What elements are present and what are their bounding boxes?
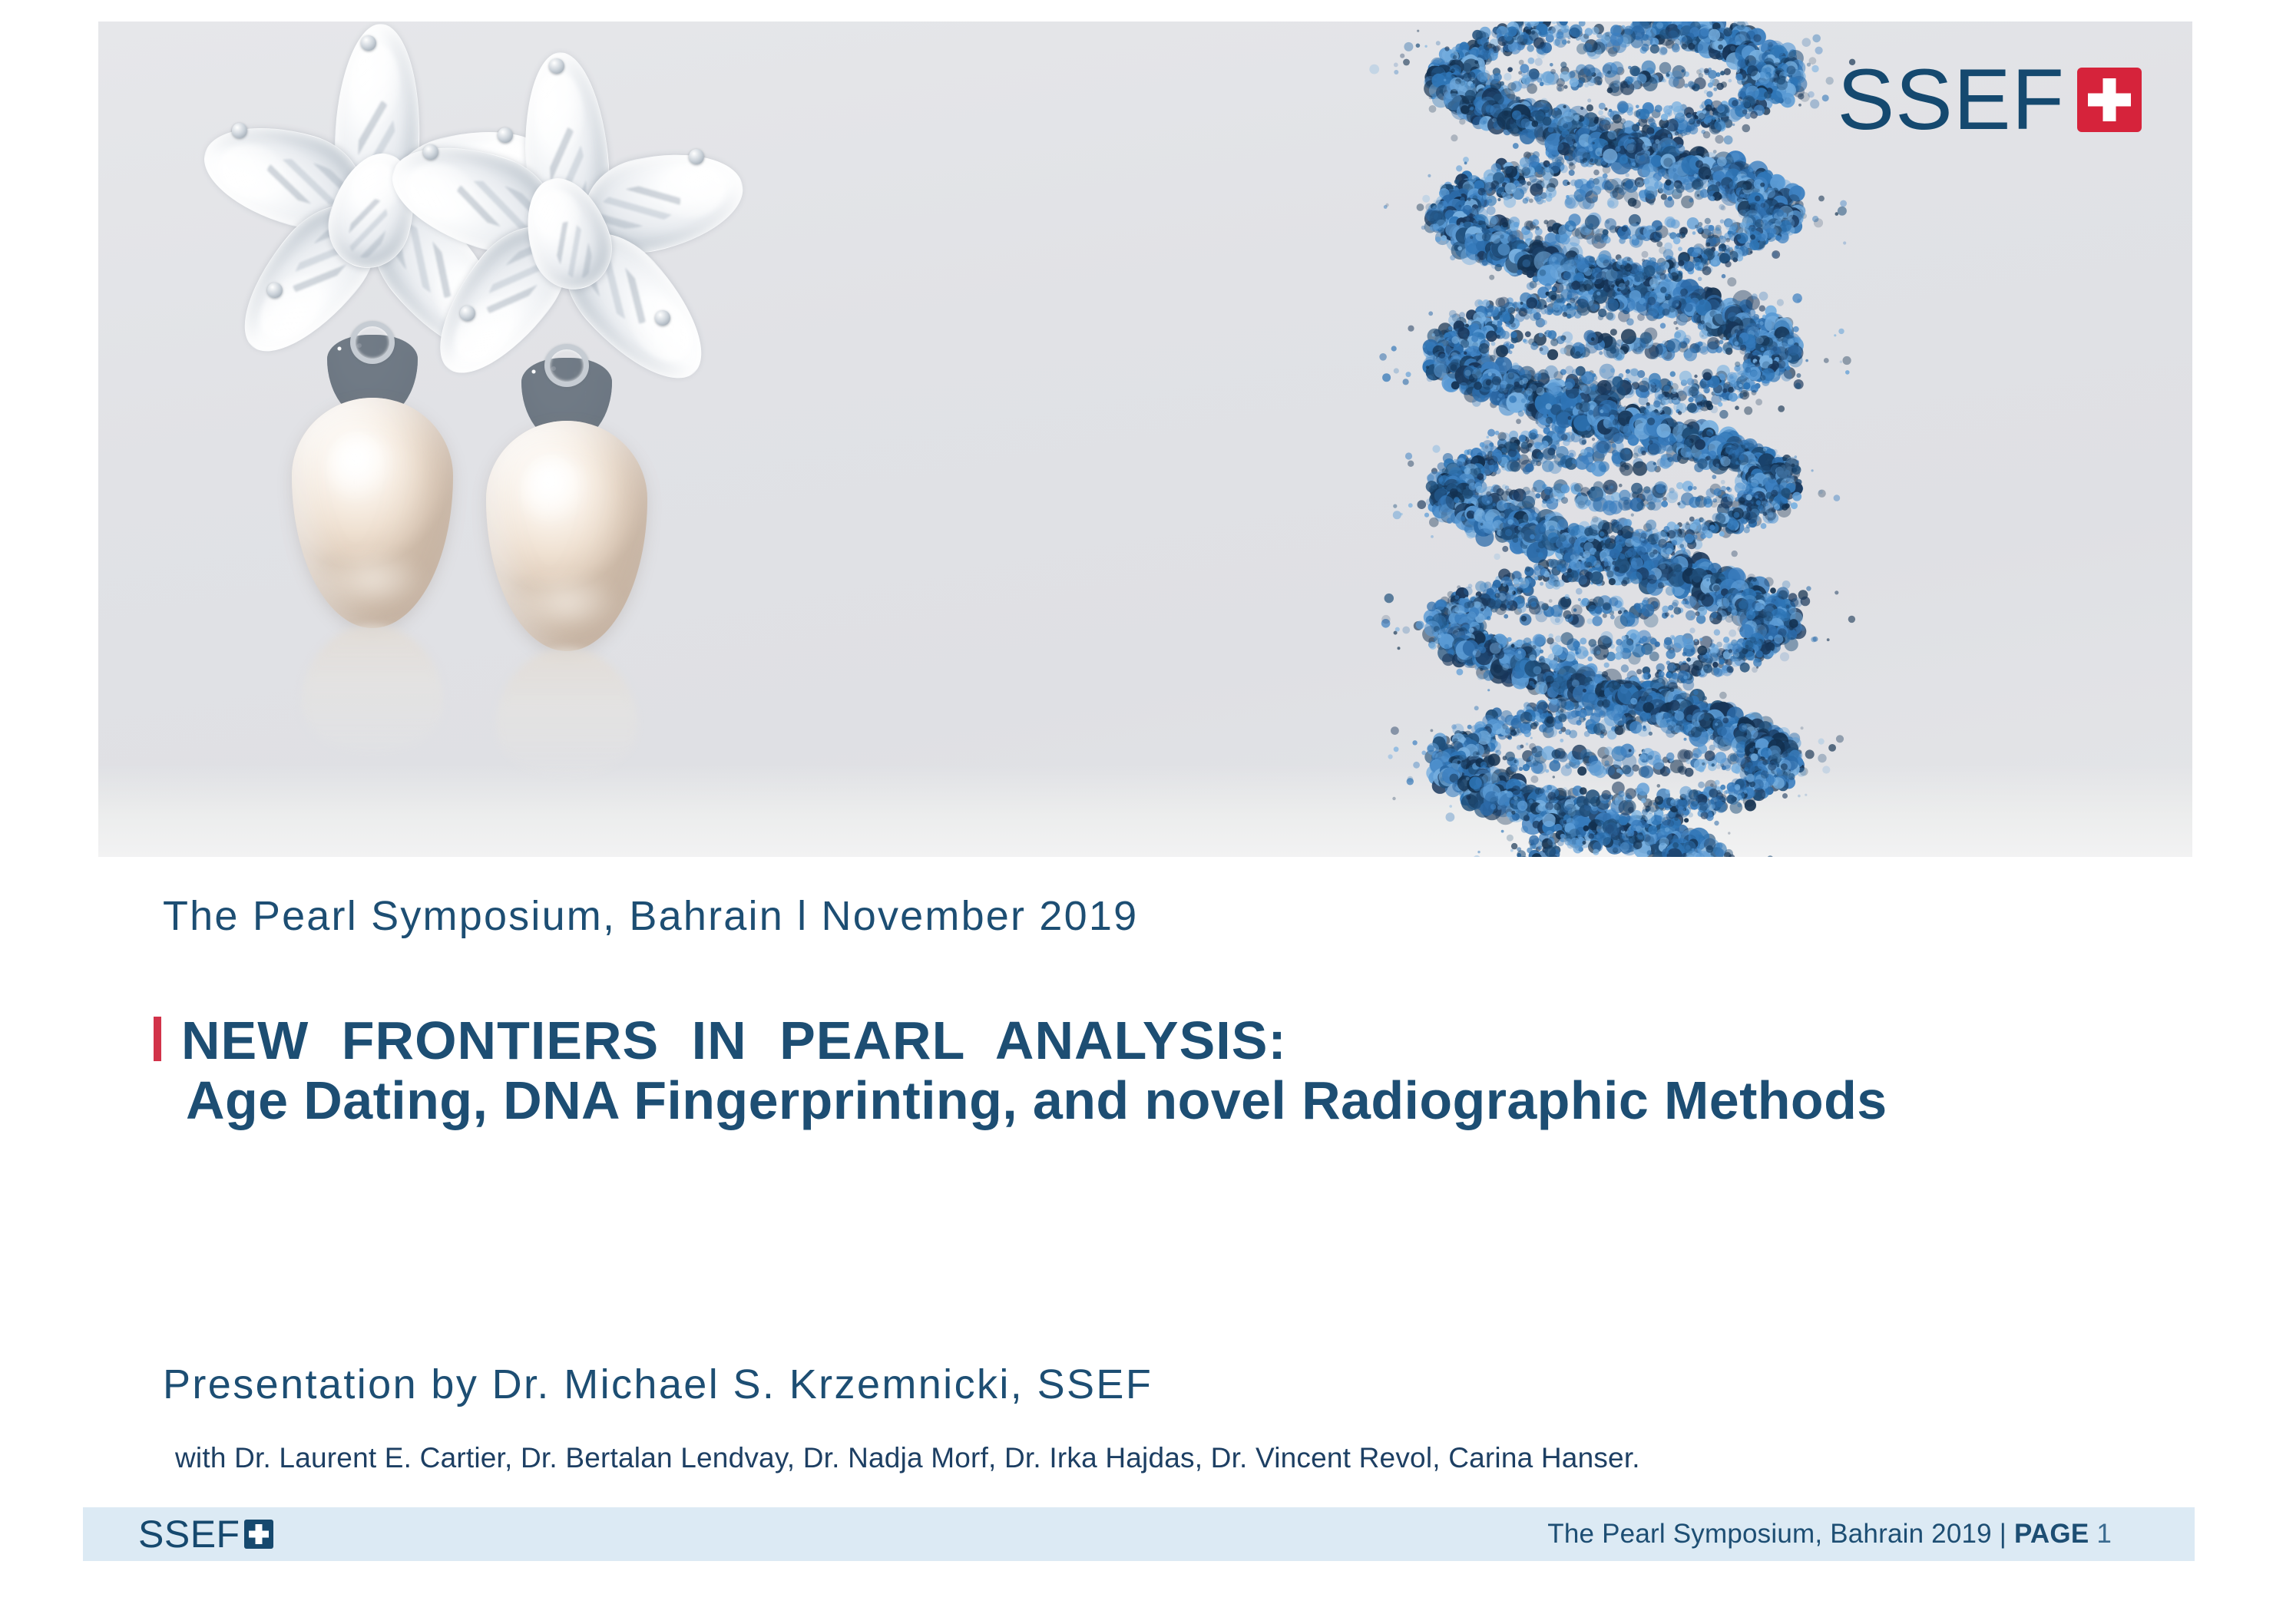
footer-swiss-cross-icon <box>244 1520 273 1549</box>
setting-prong <box>655 310 670 326</box>
pearl-drop <box>486 421 647 651</box>
setting-prong <box>689 149 704 164</box>
footer-page-number: 1 <box>2096 1519 2112 1549</box>
footer-event-text: The Pearl Symposium, Bahrain 2019 | <box>1547 1519 2014 1549</box>
cross-horizontal-bar <box>249 1531 269 1538</box>
event-subtitle: The Pearl Symposium, Bahrain l November … <box>163 892 1138 940</box>
title-accent-bar <box>154 1017 161 1061</box>
footer-page-label: PAGE <box>2014 1519 2089 1549</box>
setting-prong <box>267 283 283 298</box>
footer-meta: The Pearl Symposium, Bahrain 2019 | PAGE… <box>1547 1519 2112 1550</box>
setting-prong <box>549 58 564 74</box>
footer-ssef-logo: SSEF <box>138 1515 273 1553</box>
hero-image: SSEF <box>98 21 2192 857</box>
pearl-reflection <box>495 648 638 779</box>
pearl-reflection <box>301 625 444 756</box>
cap-bail-ring <box>544 344 589 387</box>
cross-horizontal-bar <box>2088 94 2130 107</box>
footer-ssef-wordmark: SSEF <box>138 1515 240 1553</box>
setting-prong <box>361 35 376 51</box>
coauthors-line: with Dr. Laurent E. Cartier, Dr. Bertala… <box>175 1442 1640 1474</box>
ssef-logo: SSEF <box>1837 57 2142 143</box>
setting-prong <box>423 144 438 160</box>
page-subtitle: Age Dating, DNA Fingerprinting, and nove… <box>186 1069 2212 1133</box>
cap-bail-ring <box>350 321 395 364</box>
pearl-drop <box>292 398 453 628</box>
slide-footer: SSEF The Pearl Symposium, Bahrain 2019 |… <box>83 1507 2195 1561</box>
page-title: NEW FRONTIERS IN PEARL ANALYSIS: <box>181 1012 1287 1069</box>
presenter-line: Presentation by Dr. Michael S. Krzemnick… <box>163 1361 1153 1408</box>
setting-prong <box>460 306 475 321</box>
title-line-1-row: NEW FRONTIERS IN PEARL ANALYSIS: <box>154 1012 2212 1069</box>
swiss-cross-icon <box>2077 68 2142 132</box>
slide-title-block: NEW FRONTIERS IN PEARL ANALYSIS: Age Dat… <box>154 1012 2212 1133</box>
ssef-wordmark: SSEF <box>1837 57 2065 143</box>
setting-prong <box>232 123 247 138</box>
